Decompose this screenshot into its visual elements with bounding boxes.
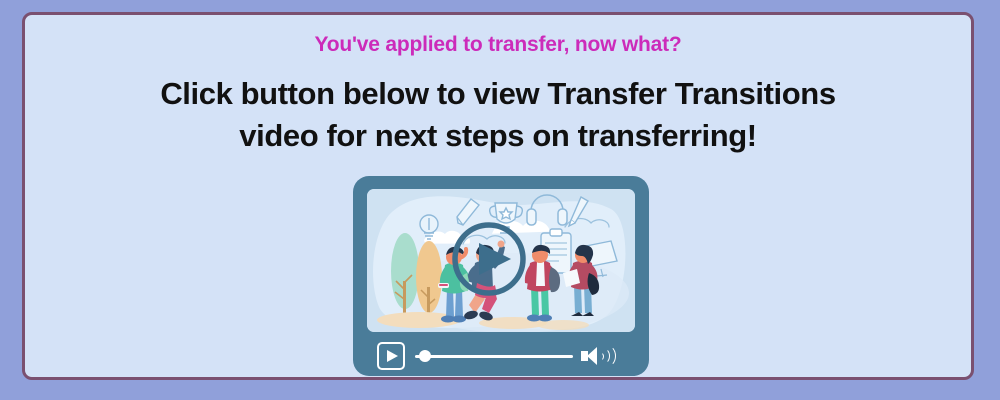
headline-line-1: Click button below to view Transfer Tran…	[25, 73, 971, 115]
play-icon[interactable]	[377, 342, 405, 370]
progress-bar[interactable]	[415, 355, 573, 358]
player-controls[interactable]	[353, 336, 649, 376]
speaker-icon[interactable]	[581, 344, 613, 368]
player-screen-artwork	[367, 189, 635, 332]
player-screen	[367, 189, 635, 332]
page-title: Click button below to view Transfer Tran…	[25, 73, 971, 157]
kicker-text: You've applied to transfer, now what?	[25, 33, 971, 57]
promo-banner: You've applied to transfer, now what? Cl…	[22, 12, 974, 380]
video-player-illustration[interactable]	[353, 176, 649, 376]
speaker-wave-3	[598, 345, 616, 367]
headline-line-2: video for next steps on transferring!	[25, 115, 971, 157]
progress-handle[interactable]	[419, 350, 431, 362]
